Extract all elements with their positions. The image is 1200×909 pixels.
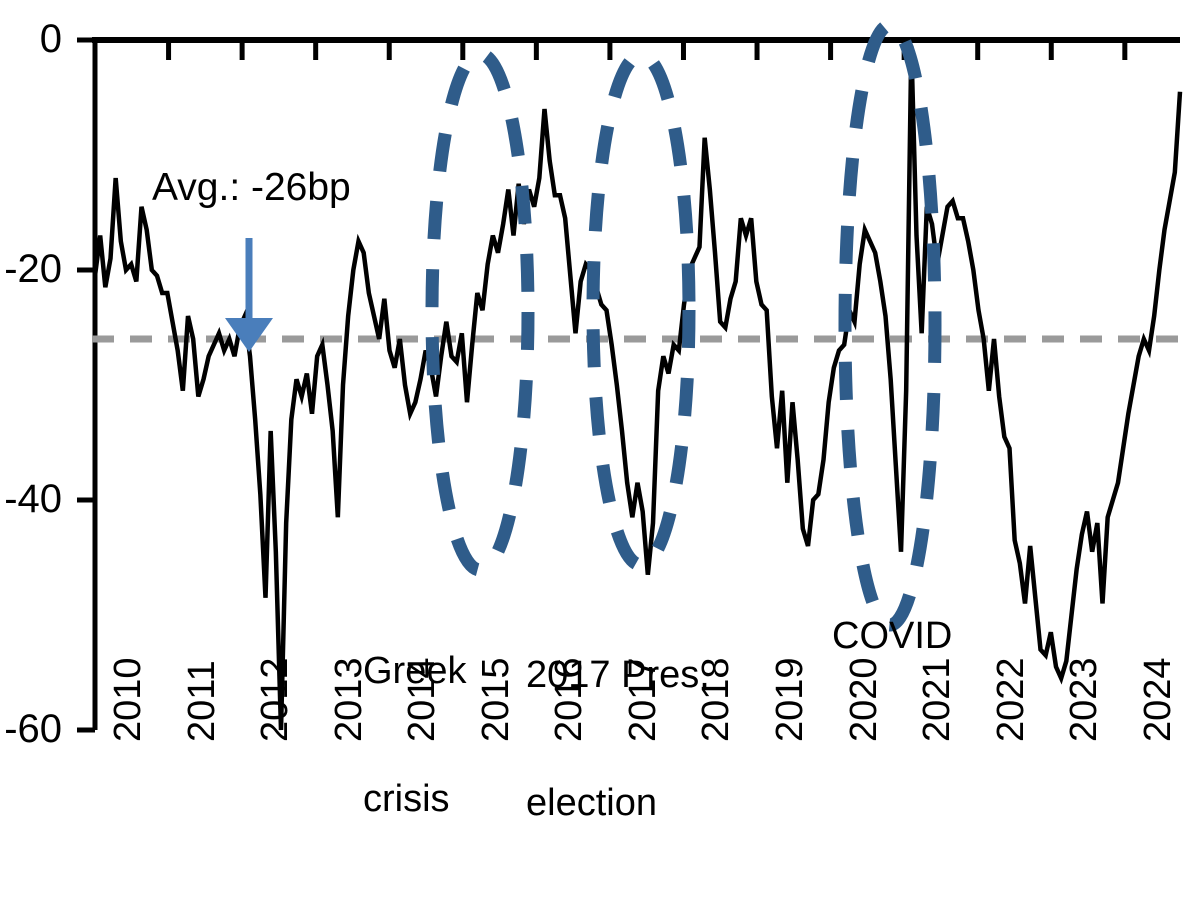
pres-election-line2: election	[526, 782, 710, 825]
x-axis-tick-label: 2022	[992, 657, 1030, 742]
y-axis-tick-label: 0	[0, 19, 62, 59]
annotation-label-covid: COVID	[832, 615, 952, 658]
x-axis-tick-label: 2013	[330, 657, 368, 742]
y-axis-tick-label: -40	[0, 479, 62, 519]
annotation-label-pres-election: 2017 Pres. election	[526, 569, 710, 909]
x-axis-tick-label: 2020	[845, 657, 883, 742]
x-axis-tick-label: 2012	[256, 657, 294, 742]
x-axis-tick-label: 2015	[477, 657, 515, 742]
y-axis-tick-label: -20	[0, 249, 62, 289]
x-axis-tick-label: 2024	[1139, 657, 1177, 742]
x-axis-tick-label: 2023	[1065, 657, 1103, 742]
average-annotation-label: Avg.: -26bp	[152, 168, 351, 207]
greek-crisis-line2: crisis	[363, 778, 466, 821]
pres-election-line1: 2017 Pres.	[526, 654, 710, 697]
x-axis-tick-label: 2019	[771, 657, 809, 742]
y-axis-tick-label: -60	[0, 709, 62, 749]
chart-container: 0-20-40-60 20102011201220132014201520162…	[0, 0, 1200, 852]
x-axis-tick-label: 2011	[183, 660, 221, 742]
x-axis-tick-label: 2010	[109, 657, 147, 742]
x-axis-tick-label: 2021	[918, 657, 956, 742]
annotation-label-greek-crisis: Greek crisis	[363, 565, 466, 905]
greek-crisis-line1: Greek	[363, 650, 466, 693]
